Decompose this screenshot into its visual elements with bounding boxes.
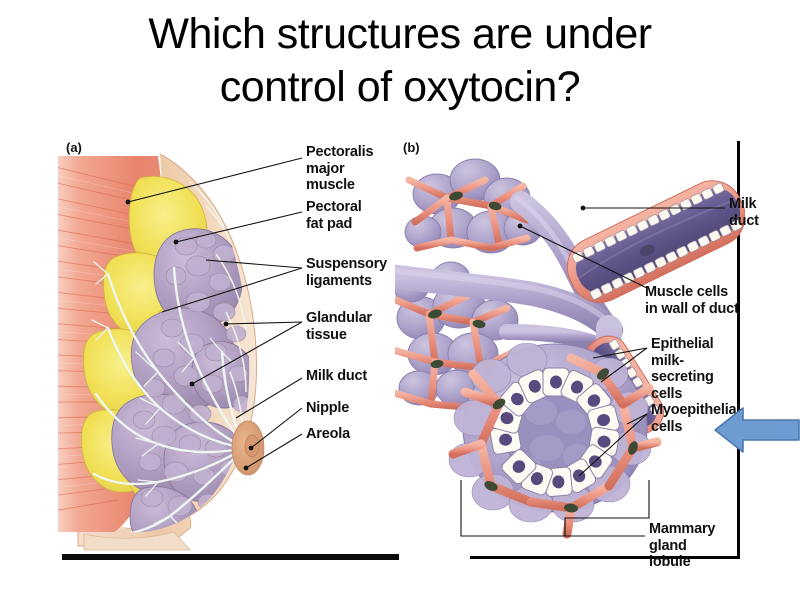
slide-canvas: Which structures are under control of ox… — [0, 0, 800, 600]
label-mammary-gland-lobule: Mammary gland lobule — [649, 521, 745, 571]
label-suspensory-ligaments: Suspensory ligaments — [306, 256, 387, 289]
anatomy-figure: (a) — [40, 136, 745, 560]
label-milk-duct-b: Milk duct — [729, 196, 759, 229]
label-pectoral-fat-pad: Pectoral fat pad — [306, 199, 362, 232]
label-epithelial-milk-secreting-cells: Epithelial milk-secreting cells — [651, 336, 745, 402]
label-nipple: Nipple — [306, 400, 349, 417]
page-title: Which structures are under control of ox… — [0, 8, 800, 114]
left-arrow-icon — [713, 402, 800, 458]
panel-b: (b) — [395, 136, 745, 560]
title-line-1: Which structures are under — [0, 8, 800, 61]
label-milk-duct-a: Milk duct — [306, 368, 367, 385]
panel-a: (a) — [40, 136, 400, 560]
blue-left-arrow — [713, 402, 800, 458]
label-areola: Areola — [306, 426, 350, 443]
label-glandular-tissue: Glandular tissue — [306, 310, 372, 343]
label-muscle-cells-in-wall-of-duct: Muscle cells in wall of duct — [645, 284, 739, 317]
label-pectoralis-major-muscle: Pectoralis major muscle — [306, 144, 373, 194]
title-line-2: control of oxytocin? — [0, 61, 800, 114]
